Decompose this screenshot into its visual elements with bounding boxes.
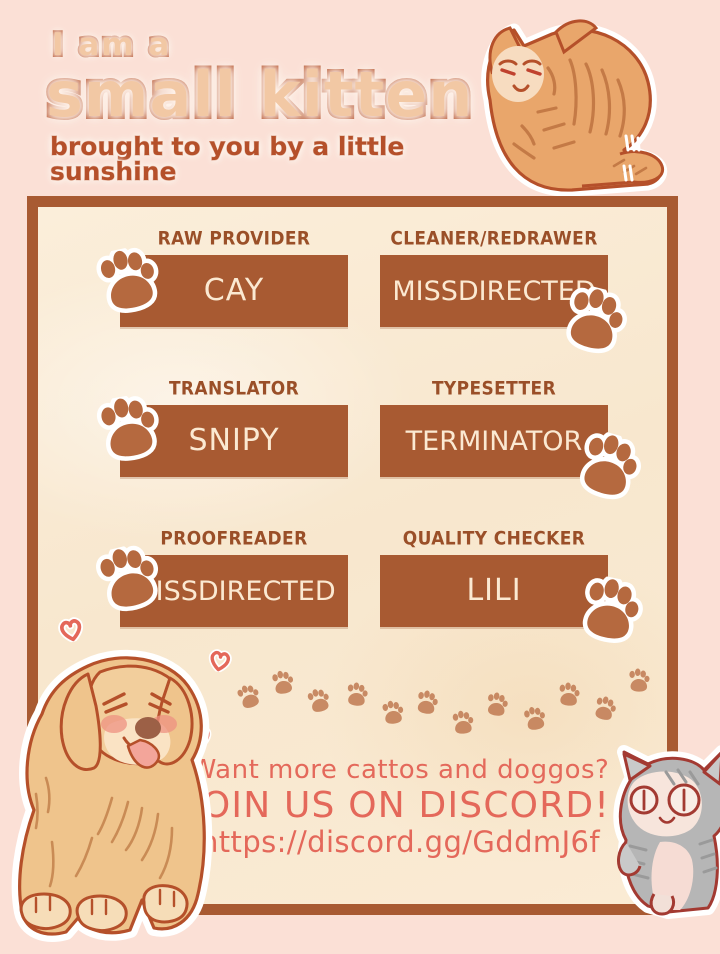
- paw-trail: [228, 662, 658, 732]
- credit-name: SNIPY: [188, 426, 279, 456]
- poster-header: I am a small kitten brought to you by a …: [0, 0, 720, 196]
- paw-print-icon: [572, 572, 650, 650]
- credit-role-label: TYPESETTER: [380, 380, 608, 399]
- credit-cell-typesetter: TYPESETTER TERMINATOR: [380, 382, 608, 477]
- orange-tabby-cat-icon: [452, 8, 682, 213]
- credit-name: LILI: [466, 576, 521, 606]
- credit-role-label: QUALITY CHECKER: [380, 530, 608, 549]
- paw-print-icon: [379, 699, 408, 728]
- paw-print-icon: [90, 242, 168, 320]
- paw-print-icon: [626, 668, 653, 695]
- grey-tabby-cat-icon: [608, 738, 720, 920]
- paw-print-icon: [268, 668, 297, 697]
- paw-print-icon: [449, 709, 477, 737]
- paw-print-icon: [303, 685, 335, 717]
- credit-cell-quality-checker: QUALITY CHECKER LILI: [380, 532, 608, 627]
- credits-grid: RAW PROVIDER CAY CLEANER/REDRAWER MISSDI…: [120, 232, 608, 682]
- paw-print-icon: [520, 704, 550, 734]
- credit-name-box: LILI: [380, 555, 608, 627]
- credit-name: TERMINATOR: [406, 428, 583, 455]
- paw-print-icon: [412, 688, 442, 718]
- title-block: I am a small kitten brought to you by a …: [46, 30, 516, 184]
- paw-print-icon: [343, 681, 372, 710]
- paw-print-icon: [482, 690, 511, 719]
- poster-canvas: I am a small kitten brought to you by a …: [0, 0, 720, 954]
- credits-row: TRANSLATOR SNIPY TYPESETTER TERMINATOR: [120, 382, 608, 532]
- paw-print-icon: [91, 391, 167, 467]
- golden-retriever-dog-icon: [0, 632, 240, 954]
- title-line-1: I am a: [52, 30, 516, 61]
- paw-print-icon: [555, 681, 583, 709]
- credit-name: CAY: [204, 276, 264, 306]
- credit-role-label: CLEANER/REDRAWER: [380, 230, 608, 249]
- title-subtitle: brought to you by a little sunshine: [50, 134, 516, 184]
- paw-print-icon: [589, 693, 621, 725]
- credits-row: RAW PROVIDER CAY CLEANER/REDRAWER MISSDI…: [120, 232, 608, 382]
- title-line-2: small kitten: [46, 63, 516, 126]
